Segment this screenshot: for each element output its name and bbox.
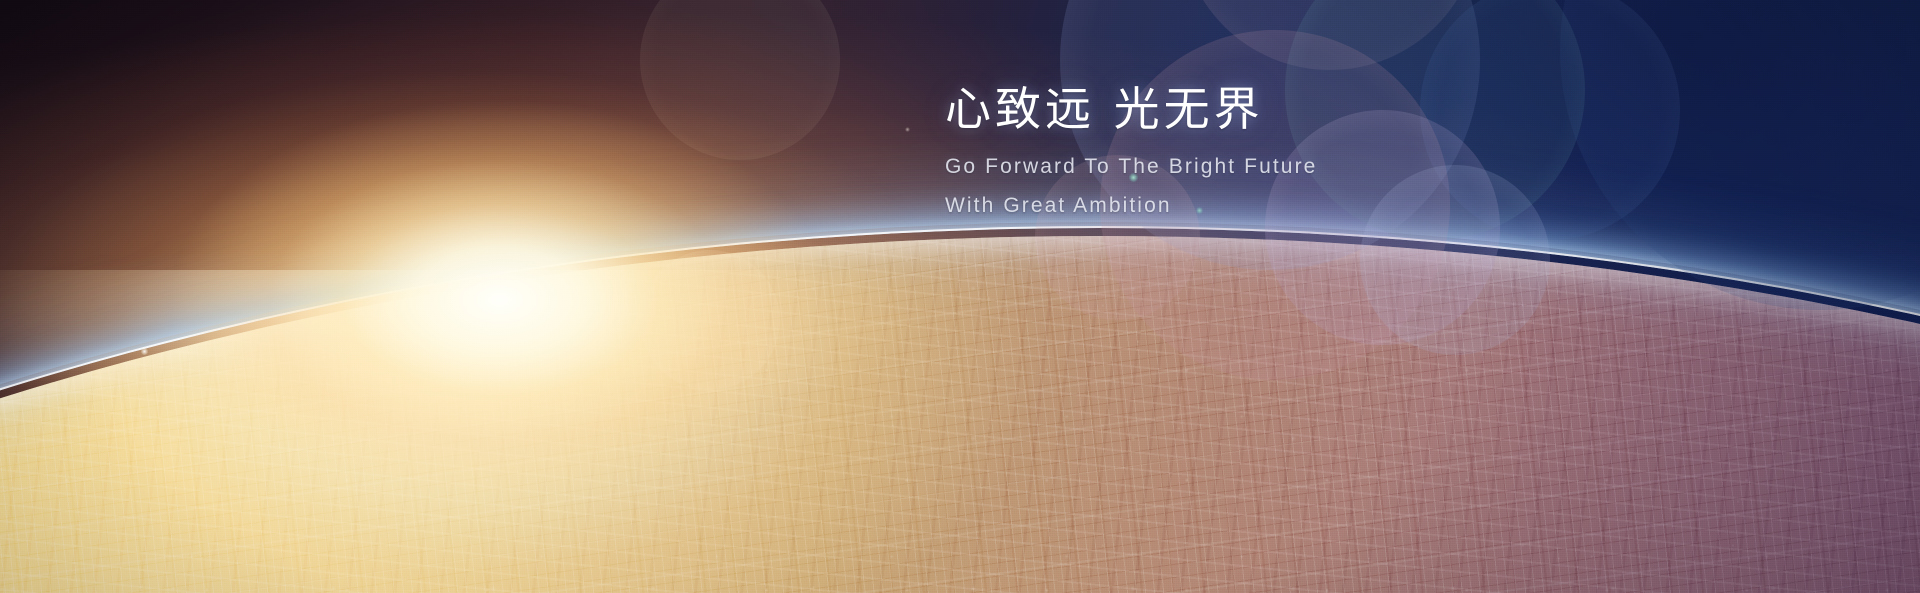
banner-subtitle-line-1: Go Forward To The Bright Future — [945, 152, 1765, 183]
banner-headline: 心致远 光无界 — [945, 82, 1765, 136]
lens-flare-sparkle — [905, 127, 910, 132]
lens-flare-sparkle — [141, 348, 148, 355]
hero-banner: 心致远 光无界 Go Forward To The Bright Future … — [0, 0, 1920, 593]
lens-flare-circle — [1180, 0, 1480, 70]
banner-subtitle-line-2: With Great Ambition — [945, 191, 1765, 222]
banner-copy-block: 心致远 光无界 Go Forward To The Bright Future … — [945, 82, 1765, 222]
banner-subtitle: Go Forward To The Bright Future With Gre… — [945, 152, 1765, 221]
lens-flare-circle — [640, 0, 840, 160]
